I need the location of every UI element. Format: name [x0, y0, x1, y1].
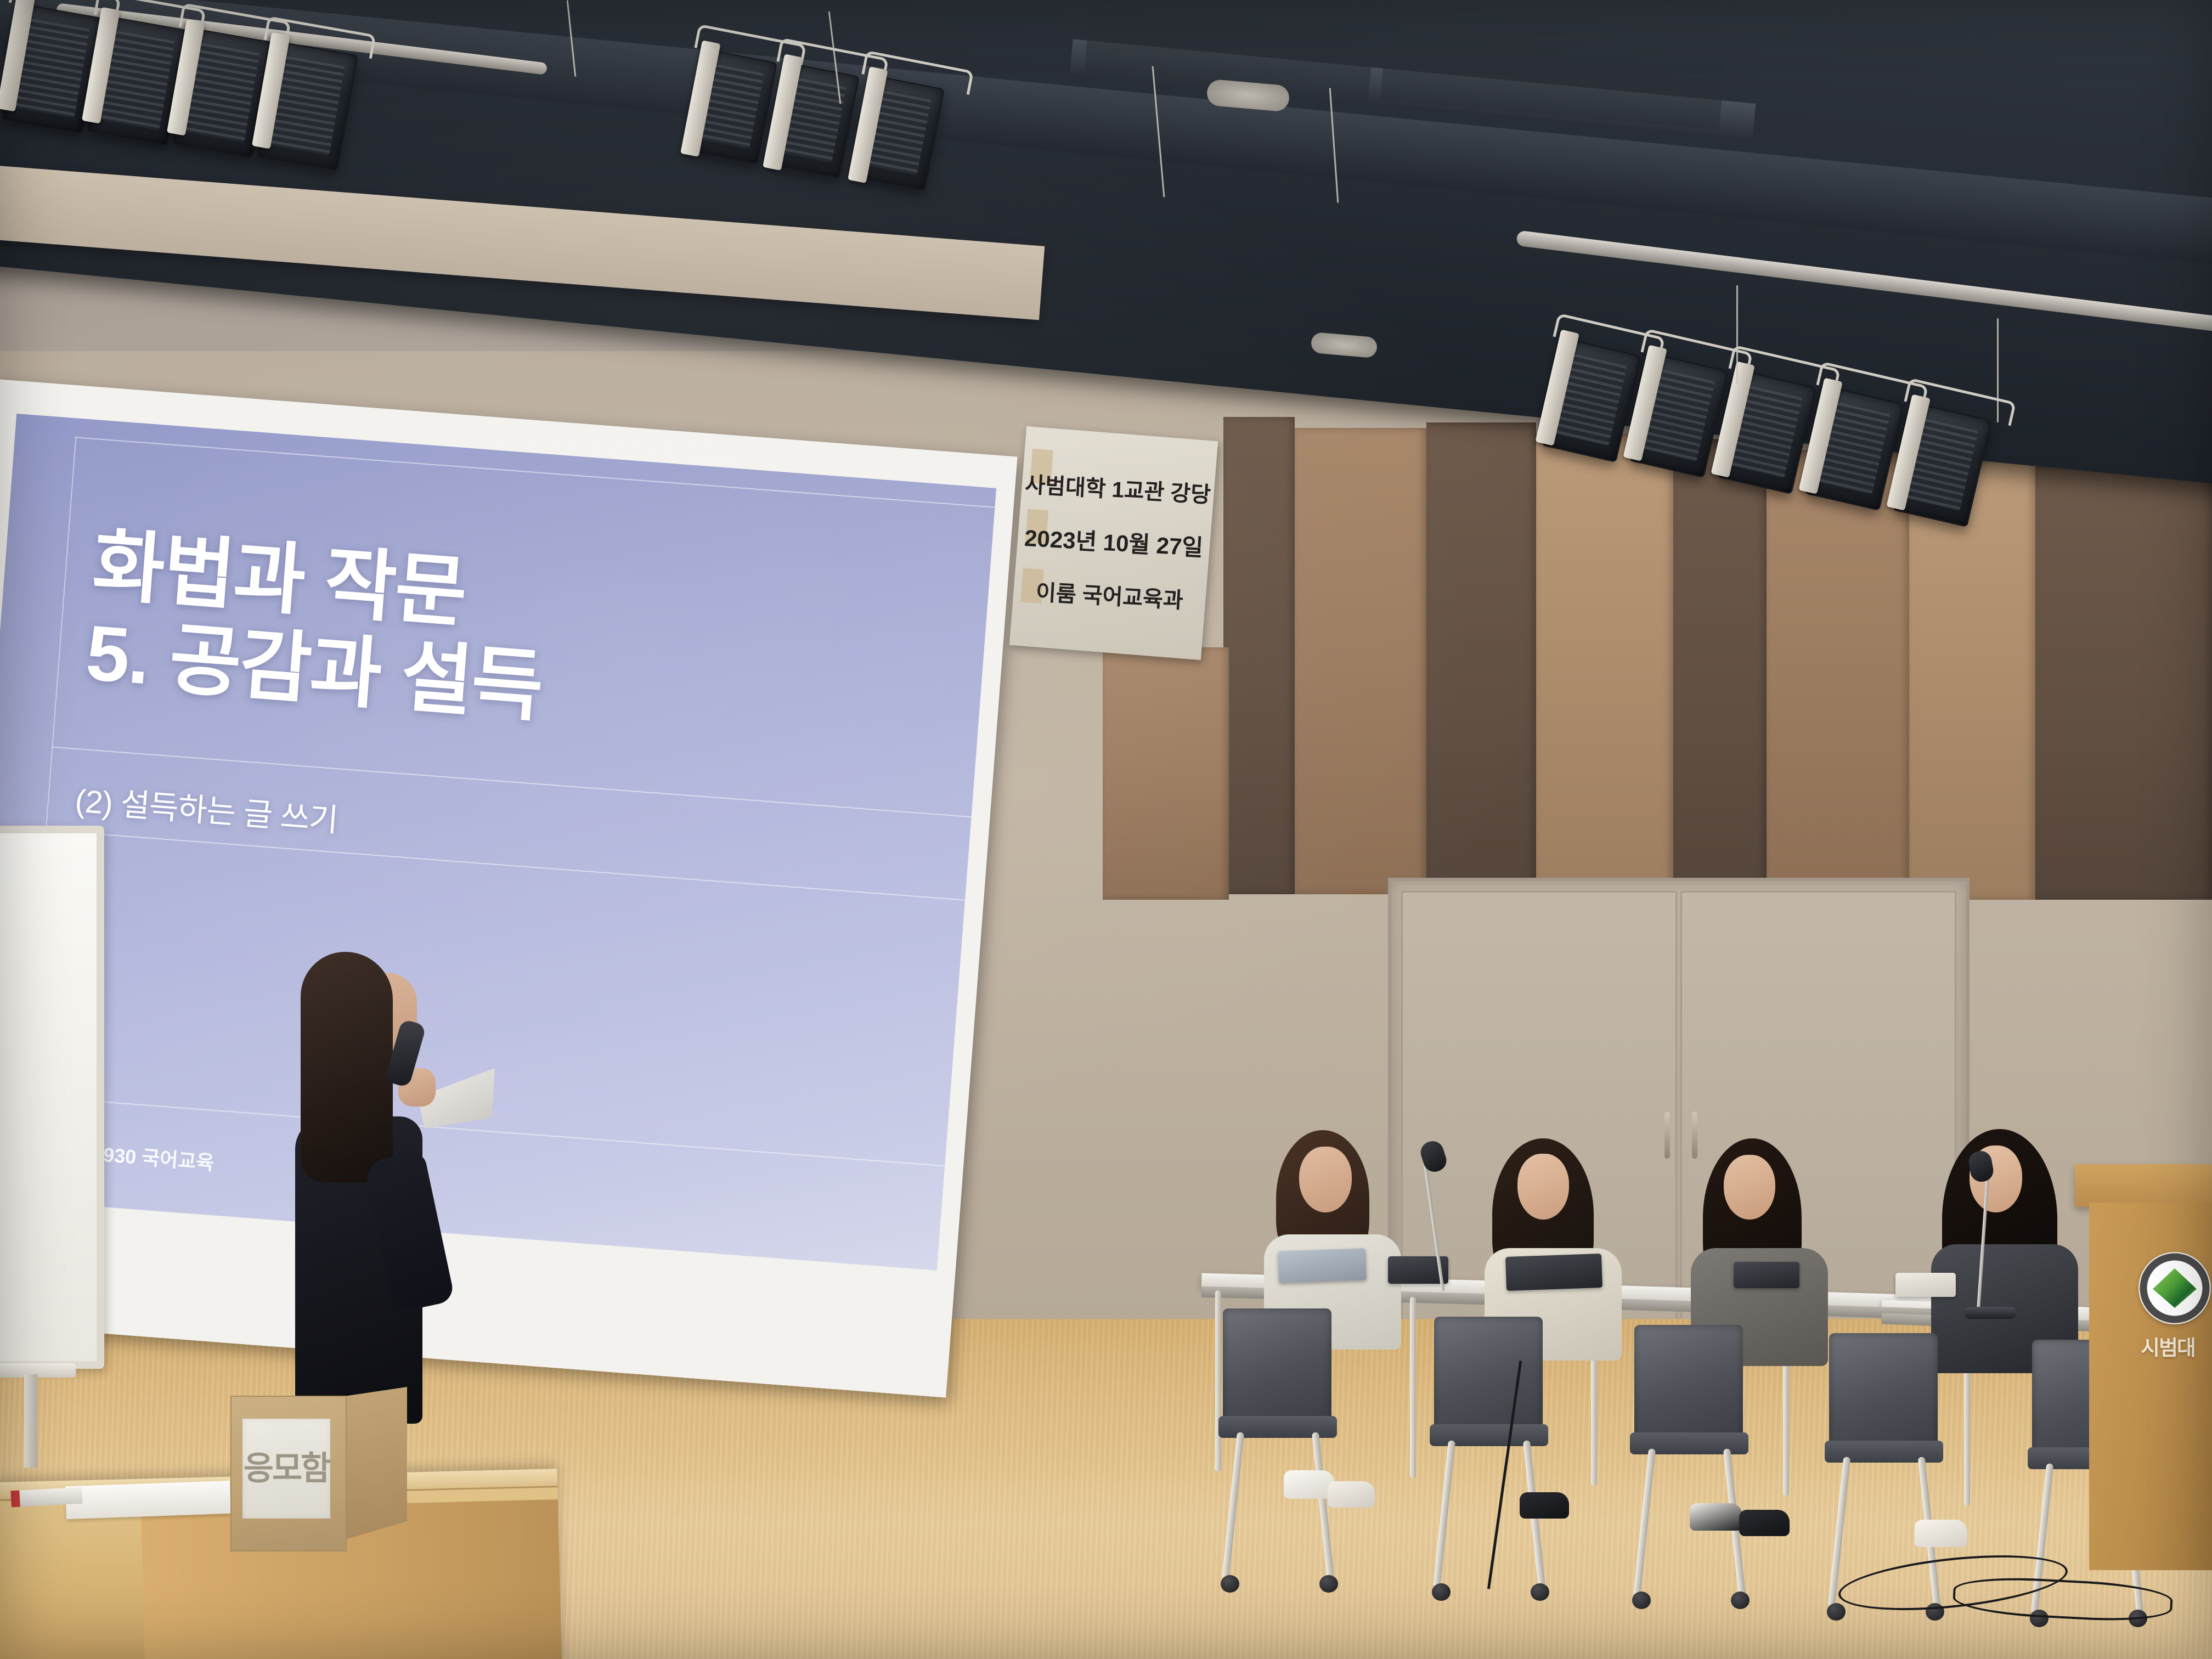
slide-rule-top — [75, 437, 995, 507]
slide-rule-sub — [46, 830, 965, 900]
banner-dept: 이룸 국어교육과 — [1013, 573, 1206, 616]
wall-panel — [1426, 422, 1536, 894]
chair-seat — [1630, 1432, 1748, 1454]
wall-panel — [1767, 450, 1909, 897]
panel-device[interactable] — [1734, 1262, 1799, 1288]
chair-back — [1223, 1308, 1331, 1423]
panelist-face — [1724, 1155, 1775, 1220]
hanging-cable — [1997, 318, 1999, 422]
lecture-hall-scene: 화법과 작문 5. 공감과 설득 (2) 설득하는 글 쓰기 22225930 … — [0, 0, 2212, 1659]
banner-date: 2023년 10월 27일 — [1017, 519, 1211, 563]
presentation-slide: 화법과 작문 5. 공감과 설득 (2) 설득하는 글 쓰기 22225930 … — [0, 414, 996, 1271]
banner-venue: 사범대학 1교관 강당 — [1022, 467, 1215, 509]
university-crest-icon — [2138, 1252, 2211, 1324]
chair-seat — [1218, 1416, 1337, 1438]
slide-title: 화법과 작문 5. 공감과 설득 — [83, 522, 551, 732]
chair-back — [1634, 1325, 1743, 1439]
panelist-shoe — [1284, 1470, 1334, 1499]
wall-panel — [1295, 428, 1426, 894]
panelist-shoe — [1328, 1481, 1375, 1508]
whiteboard[interactable]: 반 — [0, 826, 104, 1457]
box-side — [346, 1387, 407, 1539]
event-banner: 사범대학 1교관 강당 2023년 10월 27일 이룸 국어교육과 — [1009, 426, 1218, 660]
panelist-shoe — [1739, 1510, 1790, 1536]
panel-laptop[interactable] — [1278, 1248, 1367, 1283]
panelist-shoe — [1690, 1503, 1742, 1531]
lectern-top — [2075, 1164, 2212, 1207]
wall-panel — [1909, 461, 2035, 900]
panel-laptop[interactable] — [1505, 1254, 1602, 1291]
wall-panel — [1673, 439, 1767, 897]
lectern[interactable]: 시범대 — [2075, 1164, 2212, 1570]
door-handle[interactable] — [1664, 1111, 1670, 1159]
panel-device[interactable] — [1895, 1273, 1956, 1297]
chair-caster — [1731, 1592, 1750, 1609]
chair-seat — [1825, 1441, 1943, 1463]
papers-on-table — [65, 1481, 231, 1519]
whiteboard-tray — [0, 1363, 76, 1378]
submission-box[interactable]: 응모함 — [230, 1387, 406, 1551]
slide-subtitle: (2) 설득하는 글 쓰기 — [74, 775, 340, 840]
whiteboard-leg — [24, 1374, 37, 1468]
panelist-shoe — [1520, 1492, 1569, 1519]
wall-panel — [1223, 417, 1295, 894]
microphone-base — [1964, 1307, 2017, 1319]
chair-back — [1829, 1333, 1938, 1447]
chair-seat — [1430, 1424, 1548, 1446]
lectern-label: 시범대 — [2141, 1331, 2195, 1361]
panelist-face — [1299, 1147, 1352, 1212]
wall-panel — [2035, 466, 2212, 900]
chair-caster — [1632, 1592, 1651, 1609]
panelist-face — [1517, 1154, 1569, 1220]
hanging-cable — [1736, 285, 1738, 384]
chair-caster — [1432, 1583, 1451, 1601]
box-label: 응모함 — [242, 1419, 330, 1519]
presenter-hair — [301, 952, 393, 1182]
chair-caster — [1221, 1575, 1239, 1593]
wall-panel — [1536, 433, 1673, 897]
chair-caster — [1531, 1583, 1549, 1601]
wall-panel — [1103, 647, 1229, 900]
chair-caster — [1319, 1575, 1338, 1593]
chair-caster — [1827, 1603, 1846, 1621]
whiteboard-surface[interactable]: 반 — [0, 826, 104, 1369]
panelist-shoe — [1915, 1520, 1967, 1547]
projection-screen: 화법과 작문 5. 공감과 설득 (2) 설득하는 글 쓰기 22225930 … — [0, 379, 1018, 1398]
